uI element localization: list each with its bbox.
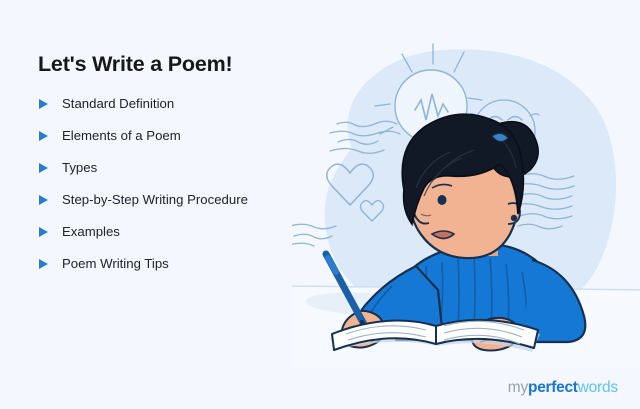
list-item[interactable]: Examples [38, 216, 328, 248]
list-item-label: Types [62, 159, 97, 176]
woman-writing-in-notebook-illustration [292, 28, 640, 368]
topic-list: Standard Definition Elements of a Poem T… [38, 88, 328, 280]
triangle-right-icon [38, 225, 52, 239]
triangle-right-icon [38, 129, 52, 143]
triangle-right-icon [38, 257, 52, 271]
list-item[interactable]: Standard Definition [38, 88, 328, 120]
page-title: Let's Write a Poem! [38, 52, 328, 78]
list-item-label: Step-by-Step Writing Procedure [62, 191, 248, 208]
list-item-label: Standard Definition [62, 95, 174, 112]
content-column: Let's Write a Poem! Standard Definition … [38, 52, 328, 280]
logo-text-words: words [578, 380, 618, 396]
list-item[interactable]: Types [38, 152, 328, 184]
list-item-label: Examples [62, 223, 120, 240]
brand-logo[interactable]: myperfectwords [508, 380, 618, 396]
logo-text-perfect: perfect [528, 380, 578, 396]
triangle-right-icon [38, 193, 52, 207]
poster-canvas: Let's Write a Poem! Standard Definition … [0, 0, 640, 409]
list-item-label: Elements of a Poem [62, 127, 181, 144]
triangle-right-icon [38, 97, 52, 111]
list-item[interactable]: Step-by-Step Writing Procedure [38, 184, 328, 216]
list-item-label: Poem Writing Tips [62, 255, 169, 272]
list-item[interactable]: Elements of a Poem [38, 120, 328, 152]
logo-text-my: my [508, 380, 528, 396]
triangle-right-icon [38, 161, 52, 175]
list-item[interactable]: Poem Writing Tips [38, 248, 328, 280]
